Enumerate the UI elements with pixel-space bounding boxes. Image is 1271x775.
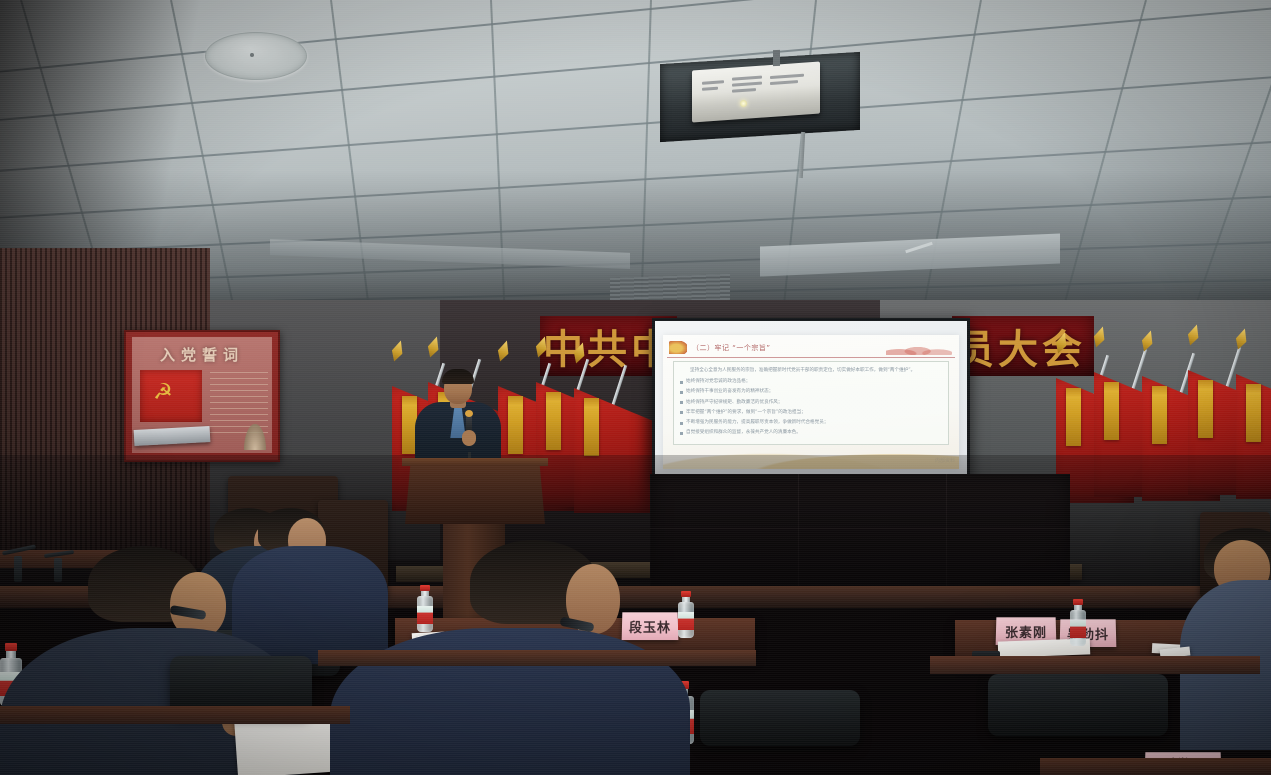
slide-bullet-4-text: 牢牢把握“两个维护”的要求，做到“一个宗旨”的政治担当； [686, 409, 806, 416]
slide-bullet-4: 牢牢把握“两个维护”的要求，做到“一个宗旨”的政治担当； [680, 409, 942, 416]
projector-lens-icon [740, 100, 747, 107]
party-oath-poster: 入党誓词 ☭ [124, 330, 280, 462]
slide-bullet-2: 始终保持干事创业的奋发有为的精神状态； [680, 388, 942, 395]
microphone-head [465, 410, 473, 417]
table-top-right [930, 656, 1260, 674]
slide-ornament-icon [669, 341, 687, 354]
slide-bullet-3: 始终保持严守纪律规矩、勤政廉洁的优良作风； [680, 399, 942, 406]
water-bottle-1 [417, 586, 433, 632]
foreground-table-right [1040, 758, 1271, 775]
chair-back-4 [988, 674, 1168, 736]
nameplate-duan-yulin: 段玉林 [622, 612, 679, 640]
speaker-hand [462, 430, 476, 446]
slide-bullet-6-text: 自觉接受组织和群众的监督，永葆共产党人的清廉本色。 [686, 429, 801, 436]
slide-bullet-1-text: 始终保持对党忠诚的政治品格； [686, 378, 750, 385]
poster-title: 入党誓词 [126, 344, 278, 365]
slide-bullet-1: 始终保持对党忠诚的政治品格； [680, 378, 942, 385]
ceiling-projector-icon [692, 62, 820, 123]
table-microphone-stand-1 [14, 556, 22, 582]
slide-bullet-5-text: 不断增强为民服务的能力，提高履职尽责本领，争做新时代合格党员； [686, 419, 828, 426]
slide-bullet-2-text: 始终保持干事创业的奋发有为的精神状态； [686, 388, 773, 395]
slide-title: （二）牢记 “一个宗旨” [692, 343, 770, 353]
stage-banner-right: 员大会 [952, 316, 1094, 376]
hammer-and-sickle-icon: ☭ [150, 380, 176, 406]
slide-bullet-3-text: 始终保持严守纪律规矩、勤政廉洁的优良作风； [686, 399, 782, 406]
presentation-slide: （二）牢记 “一个宗旨” 坚持全心全意为人民服务的宗旨，准确把握新时代党员干部的… [663, 335, 959, 469]
slide-paragraph: 坚持全心全意为人民服务的宗旨，准确把握新时代党员干部的职责定位，切实做好本职工作… [680, 367, 942, 375]
ceiling-speaker-center [250, 53, 254, 57]
wooden-podium [405, 462, 545, 524]
slide-bullet-5: 不断增强为民服务的能力，提高履职尽责本领，争做新时代合格党员； [680, 419, 942, 426]
podium-top-surface [402, 458, 548, 466]
projector-mount [773, 50, 780, 66]
slide-content-box: 坚持全心全意为人民服务的宗旨，准确把握新时代党员干部的职责定位，切实做好本职工作… [673, 361, 949, 445]
poster-plant [244, 424, 266, 450]
water-bottle-3 [678, 592, 694, 638]
water-bottle-4 [1070, 600, 1086, 646]
chair-back-3 [700, 690, 860, 746]
table-top-center [318, 650, 756, 666]
slide-mountain-ornament-icon [886, 340, 952, 355]
ceiling-speaker-icon [205, 32, 307, 80]
conference-room-photo: 中共中 员大会 入党誓词 ☭ [0, 0, 1271, 775]
slide-bullet-6: 自觉接受组织和群众的监督，永葆共产党人的清廉本色。 [680, 429, 942, 436]
speaker-hair [442, 369, 474, 384]
banner-text-right: 员大会 [954, 317, 1086, 375]
foreground-table-left [0, 706, 350, 724]
table-microphone-stand-2 [54, 558, 62, 582]
